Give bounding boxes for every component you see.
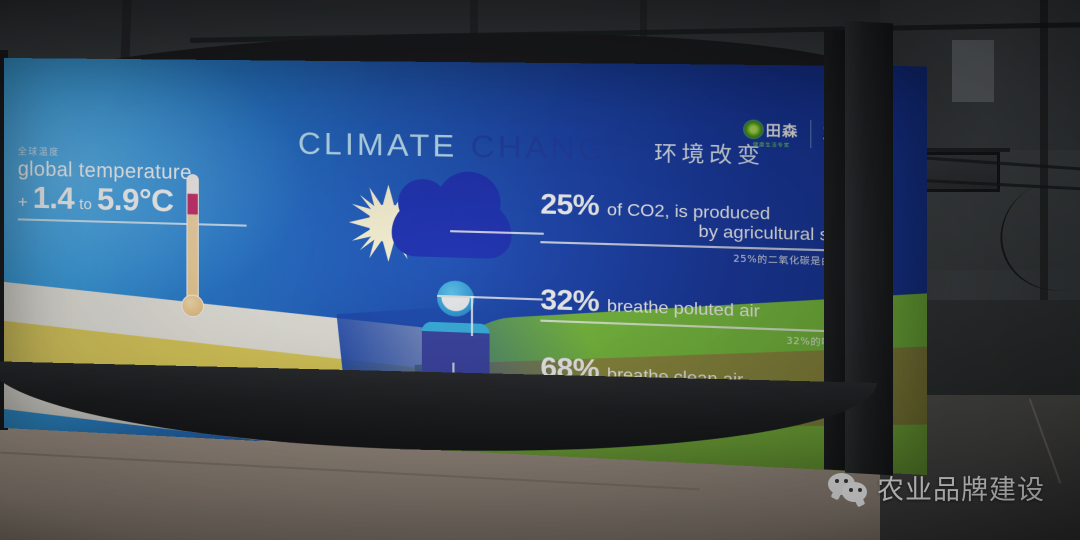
- logo-divider: [810, 120, 811, 148]
- stat-poluted-percent: 32%: [540, 284, 599, 319]
- watermark-text: 农业品牌建设: [877, 468, 1045, 507]
- stat-co2-percent: 25%: [540, 188, 599, 222]
- tiansen-logo: 田森 健康生活专家: [745, 119, 799, 149]
- photo-scene: CLIMATE CHANGE 环境改变 田森 健康生活专家 中国果品区域公用品牌: [0, 0, 1080, 540]
- title-word-change: CHANGE: [471, 130, 634, 169]
- temperature-high-value: 5.9°C: [97, 181, 174, 219]
- tiansen-logo-chinese: 田森: [766, 119, 799, 140]
- wechat-icon: [828, 473, 868, 503]
- thermometer-bulb: [181, 294, 204, 317]
- wechat-account-watermark: 农业品牌建设: [828, 468, 1045, 507]
- temperature-low-value: 1.4: [33, 180, 75, 217]
- led-video-wall[interactable]: CLIMATE CHANGE 环境改变 田森 健康生活专家 中国果品区域公用品牌: [0, 0, 1080, 540]
- temperature-plus-sign: +: [18, 192, 28, 212]
- title-word-climate: CLIMATE: [298, 127, 458, 165]
- green-flower-icon: [745, 121, 762, 138]
- thermometer-icon: [181, 174, 204, 343]
- temperature-range-connector: to: [79, 196, 92, 213]
- global-temperature-block: 全球温度 global temperature + 1.4 to 5.9°C: [18, 144, 273, 227]
- stat-poluted-text: breathe poluted air: [607, 297, 760, 322]
- tiansen-logo-tagline: 健康生活专家: [753, 141, 790, 148]
- global-temperature-value: + 1.4 to 5.9°C: [18, 179, 273, 222]
- cloud-icon: [392, 197, 512, 259]
- thermometer-stem: [186, 174, 198, 305]
- connector-line-poluted-vertical: [471, 296, 473, 336]
